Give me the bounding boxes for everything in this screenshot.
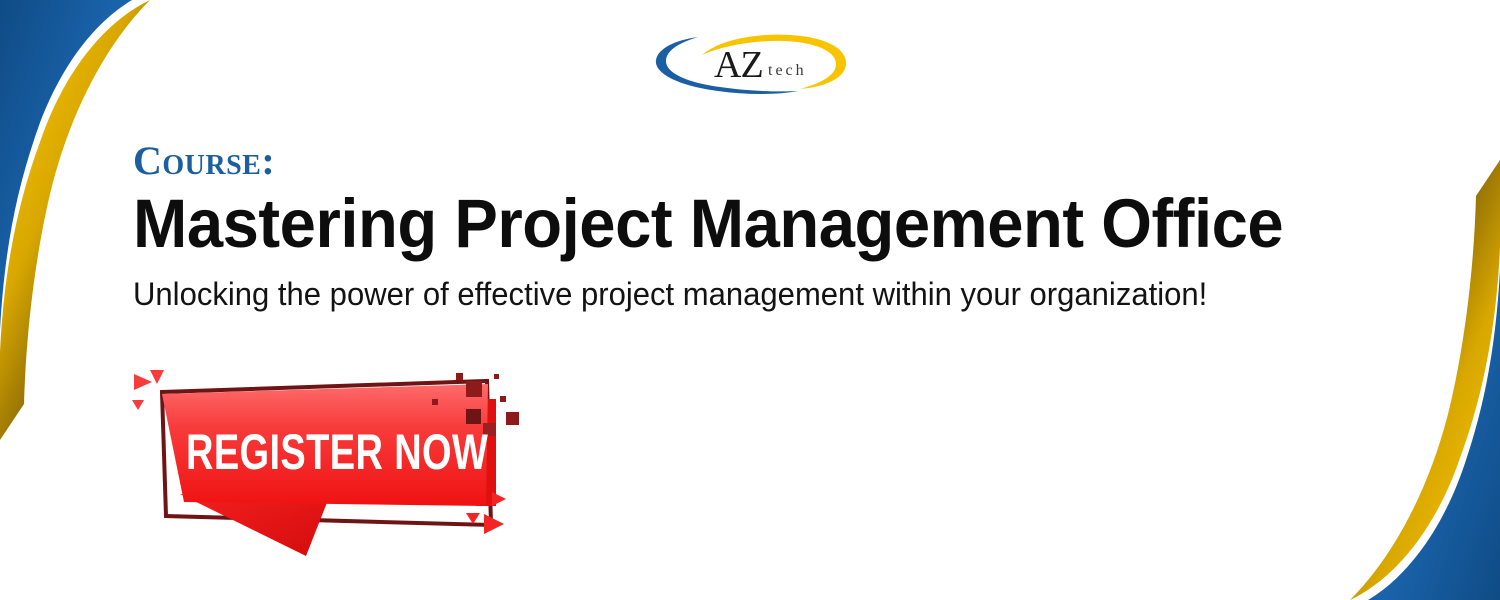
decor-triangles-top-left xyxy=(132,370,164,410)
ribbon-body xyxy=(162,384,488,506)
course-promo-banner: AZ tech Course: Mastering Project Manage… xyxy=(0,0,1500,600)
course-text-block: Course: Mastering Project Management Off… xyxy=(133,140,1423,314)
register-now-ribbon[interactable] xyxy=(128,366,528,561)
page-title: Mastering Project Management Office xyxy=(133,188,1352,260)
aztech-logo-icon: AZ tech xyxy=(650,33,850,95)
eyebrow-label: Course: xyxy=(133,140,1423,182)
page-subtitle: Unlocking the power of effective project… xyxy=(133,274,1365,315)
register-now-button[interactable] xyxy=(128,366,528,561)
brand-logo: AZ tech xyxy=(0,33,1500,95)
svg-text:AZ: AZ xyxy=(714,44,763,86)
svg-text:tech: tech xyxy=(768,62,807,79)
